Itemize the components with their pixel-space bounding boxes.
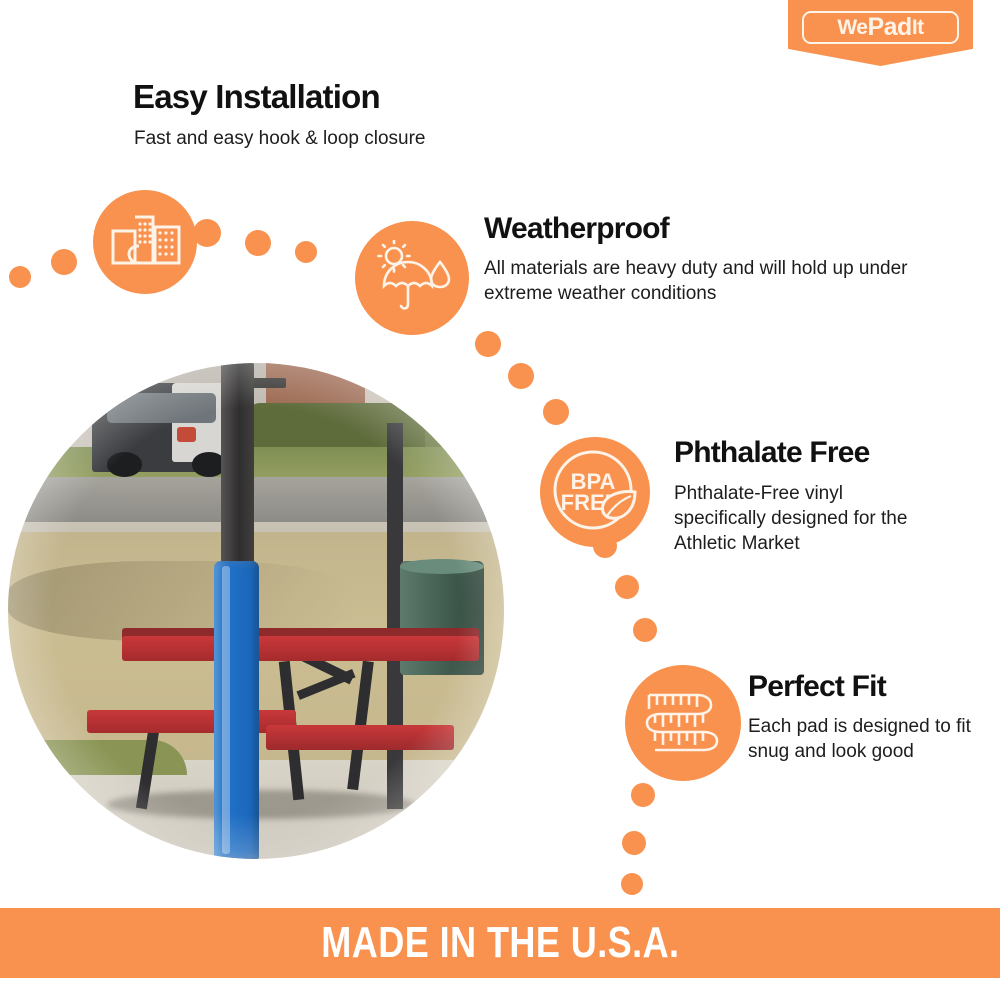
trail-dot bbox=[193, 219, 221, 247]
trail-dot bbox=[508, 363, 534, 389]
feature-body-weatherproof: All materials are heavy duty and will ho… bbox=[484, 256, 914, 306]
trail-dot bbox=[631, 783, 655, 807]
measuring-tape-icon bbox=[625, 665, 741, 781]
trail-dot bbox=[245, 230, 271, 256]
feature-body-easy-installation: Fast and easy hook & loop closure bbox=[134, 126, 554, 151]
brand-logo-frame: We Pad It bbox=[802, 11, 959, 44]
photo-vignette bbox=[8, 363, 504, 859]
product-photo bbox=[8, 363, 504, 859]
trail-dot bbox=[9, 266, 31, 288]
feature-title-perfect-fit: Perfect Fit bbox=[748, 672, 886, 702]
feature-title-phthalate-free: Phthalate Free bbox=[674, 438, 870, 468]
trail-dot bbox=[621, 873, 643, 895]
feature-body-perfect-fit: Each pad is designed to fit snug and loo… bbox=[748, 714, 978, 764]
made-in-usa-banner: MADE IN THE U.S.A. bbox=[0, 908, 1000, 978]
trail-dot bbox=[593, 534, 617, 558]
trail-dot bbox=[633, 618, 657, 642]
brand-logo-part-pad: Pad bbox=[867, 15, 911, 40]
feature-title-weatherproof: Weatherproof bbox=[484, 214, 669, 244]
trail-dot bbox=[622, 831, 646, 855]
bpa-free-leaf-icon: BPA FREE bbox=[540, 437, 650, 547]
velcro-hook-loop-icon bbox=[93, 190, 197, 294]
made-in-usa-text: MADE IN THE U.S.A. bbox=[321, 921, 679, 965]
brand-logo-part-we: We bbox=[837, 17, 867, 38]
trail-dot bbox=[615, 575, 639, 599]
infographic-page: We Pad It Easy Installation Fast and eas… bbox=[0, 0, 1000, 987]
feature-body-phthalate-free: Phthalate-Free vinyl specifically design… bbox=[674, 481, 936, 556]
feature-title-easy-installation: Easy Installation bbox=[133, 80, 380, 113]
brand-logo-banner: We Pad It bbox=[788, 0, 973, 66]
trail-dot bbox=[543, 399, 569, 425]
trail-dot bbox=[51, 249, 77, 275]
sun-umbrella-raindrop-icon bbox=[355, 221, 469, 335]
trail-dot bbox=[475, 331, 501, 357]
trail-dot bbox=[295, 241, 317, 263]
brand-logo-part-it: It bbox=[912, 17, 924, 38]
